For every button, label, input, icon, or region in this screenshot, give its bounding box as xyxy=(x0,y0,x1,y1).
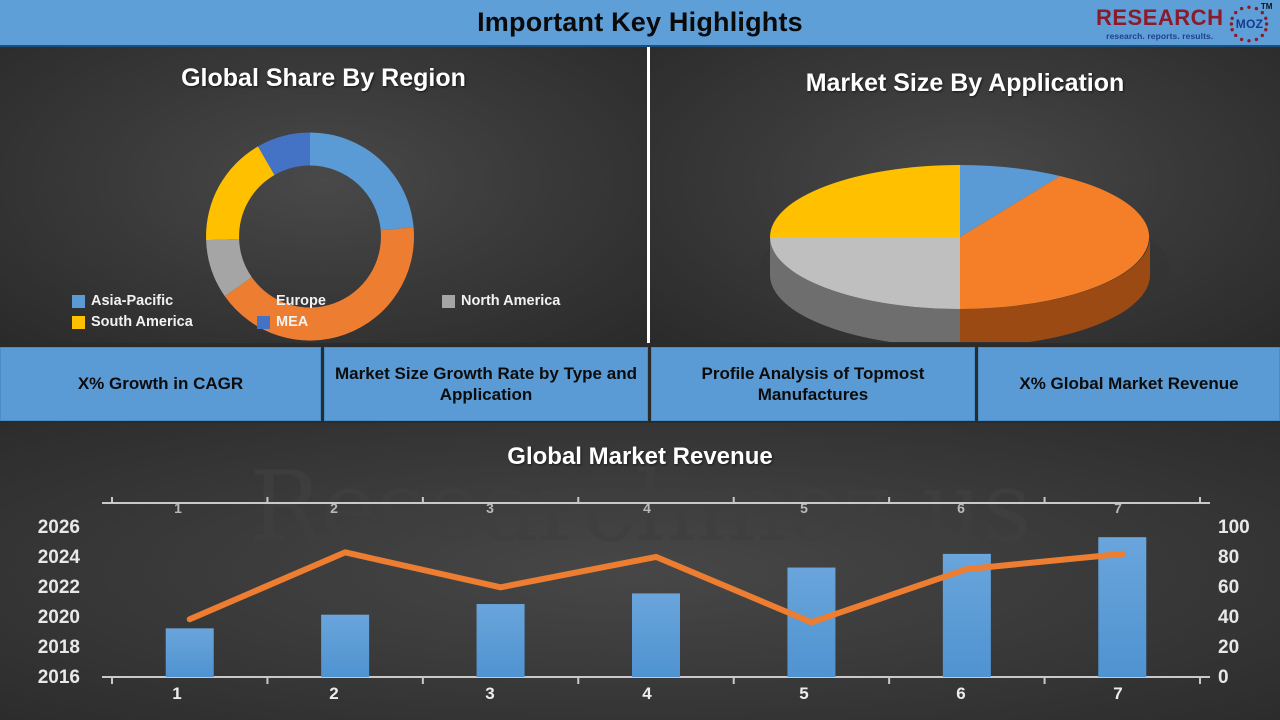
donut-chart-panel: Global Share By Region xyxy=(0,47,650,343)
bar-3 xyxy=(477,604,525,677)
banner-box-cagr[interactable]: X% Growth in CAGR xyxy=(0,347,321,421)
legend-label: MEA xyxy=(276,314,308,330)
legend-item-south-america: South America xyxy=(72,314,257,330)
legend-label: North America xyxy=(461,293,560,309)
legend-item-north-america: North America xyxy=(442,293,602,309)
bar-4 xyxy=(632,593,680,677)
page-header: Important Key Highlights RESEARCH resear… xyxy=(0,0,1280,47)
legend-label: Europe xyxy=(276,293,326,309)
donut-chart-title: Global Share By Region xyxy=(0,64,647,93)
highlight-banner-row: X% Growth in CAGR Market Size Growth Rat… xyxy=(0,345,1280,423)
page-title: Important Key Highlights xyxy=(477,7,803,38)
legend-swatch-icon xyxy=(72,295,85,308)
top-charts-row: Global Share By Region xyxy=(0,47,1280,343)
bar-2 xyxy=(321,615,369,677)
researchmoz-logo: RESEARCH research. reports. results. xyxy=(1096,3,1272,45)
logo-tm-mark: TM xyxy=(1261,2,1273,11)
legend-item-europe: Europe xyxy=(257,293,442,309)
pie-chart xyxy=(760,127,1180,342)
legend-item-asia-pacific: Asia-Pacific xyxy=(72,293,257,309)
banner-box-profile-analysis[interactable]: Profile Analysis of Topmost Manufactures xyxy=(651,347,975,421)
logo-tagline: research. reports. results. xyxy=(1106,32,1213,41)
infographic-page: Important Key Highlights RESEARCH resear… xyxy=(0,0,1280,720)
legend-label: South America xyxy=(91,314,193,330)
pie-chart-svg xyxy=(760,127,1180,342)
pie-chart-title: Market Size By Application xyxy=(650,69,1280,98)
donut-segment-asia-pacific xyxy=(310,133,414,231)
legend-swatch-icon xyxy=(257,316,270,329)
legend-swatch-icon xyxy=(72,316,85,329)
pie-3d-body xyxy=(770,165,1150,342)
legend-item-mea: MEA xyxy=(257,314,442,330)
donut-legend: Asia-Pacific Europe North America South … xyxy=(72,293,602,335)
logo-badge-icon: MOZ TM xyxy=(1227,4,1271,44)
pie-slice-yellow xyxy=(770,165,960,237)
legend-swatch-icon xyxy=(442,295,455,308)
donut-segment-south-america xyxy=(206,146,274,240)
banner-box-growth-rate[interactable]: Market Size Growth Rate by Type and Appl… xyxy=(324,347,648,421)
bar-1 xyxy=(166,628,214,677)
logo-text-block: RESEARCH research. reports. results. xyxy=(1096,7,1223,41)
legend-label: Asia-Pacific xyxy=(91,293,173,309)
logo-badge-label: MOZ xyxy=(1236,17,1264,31)
logo-wordmark: RESEARCH xyxy=(1096,7,1223,29)
pie-chart-panel: Market Size By Application xyxy=(650,47,1280,343)
legend-swatch-icon xyxy=(257,295,270,308)
combo-chart-plot xyxy=(0,423,1280,720)
banner-box-global-revenue[interactable]: X% Global Market Revenue xyxy=(978,347,1280,421)
